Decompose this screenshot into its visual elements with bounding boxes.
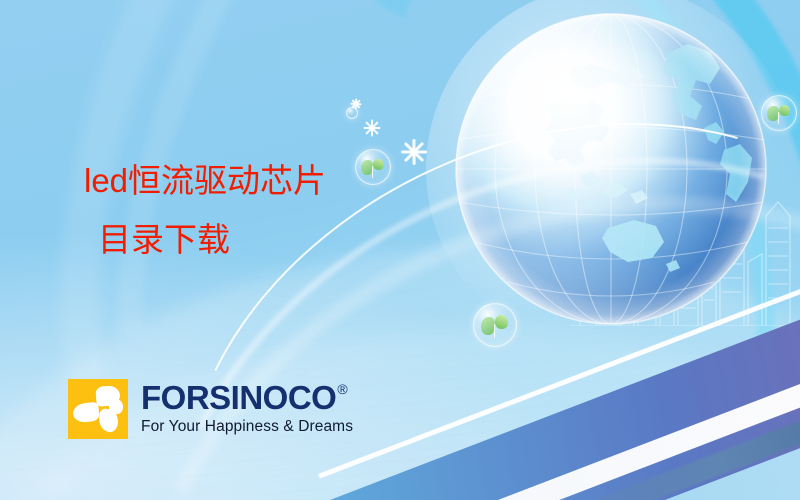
forsinoco-logo[interactable]: FORSINOCO ® For Your Happiness & Dreams: [68, 379, 353, 439]
brand-name: FORSINOCO: [141, 381, 336, 414]
headline-line-2: 目录下载: [84, 223, 326, 256]
globe: [452, 10, 770, 328]
page-title: led恒流驱动芯片 目录下载: [84, 164, 326, 256]
bubble-right-edge: [761, 95, 797, 131]
logo-text-block: FORSINOCO ® For Your Happiness & Dreams: [141, 379, 353, 436]
leaf-shape: [767, 106, 779, 121]
sparkle-flower-mid: [364, 120, 381, 137]
forsinoco-pinwheel-mark-icon: [68, 379, 128, 439]
leaf-shape: [373, 159, 384, 171]
stem-shape: [372, 166, 373, 178]
registered-trademark-icon: ®: [337, 382, 347, 396]
bubble-mid-bottom: [473, 303, 517, 347]
leaf-shape: [361, 160, 373, 175]
brand-wordmark: FORSINOCO ®: [141, 381, 353, 414]
petal-left: [72, 402, 100, 424]
led-driver-chip-banner: led恒流驱动芯片 目录下载 FORSINOCO ® For Your Happ…: [0, 0, 800, 500]
leaf-shape: [779, 105, 790, 117]
stem-shape: [778, 112, 779, 124]
brand-tagline: For Your Happiness & Dreams: [141, 418, 353, 436]
bubble-small-left: [355, 149, 391, 185]
bubble-tiny-upper: [346, 107, 358, 119]
leaf-shape: [481, 317, 495, 335]
sparkle-flower-large: [401, 139, 427, 165]
globe-outer-glow: [426, 0, 796, 354]
petal-right: [109, 399, 123, 414]
headline-line-1: led恒流驱动芯片: [84, 164, 326, 197]
leaf-shape: [495, 315, 508, 329]
